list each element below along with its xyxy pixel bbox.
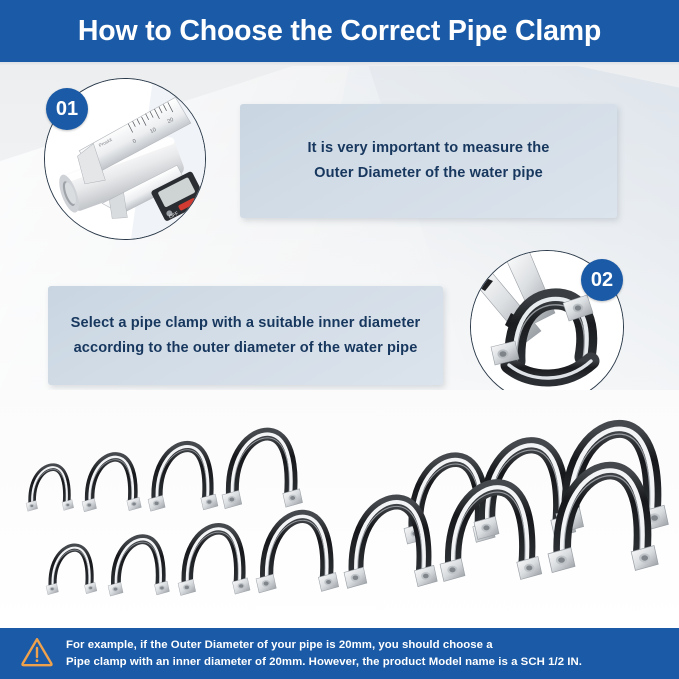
footer-line-1: For example, if the Outer Diameter of yo… bbox=[66, 637, 582, 654]
step-1-line-2: Outer Diameter of the water pipe bbox=[314, 161, 543, 186]
footer-line-2: Pipe clamp with an inner diameter of 20m… bbox=[66, 654, 582, 671]
step-2-line-2: according to the outer diameter of the w… bbox=[74, 336, 418, 361]
warning-triangle-icon bbox=[20, 636, 54, 672]
header-underline bbox=[0, 62, 679, 66]
step-1-badge: 01 bbox=[46, 88, 88, 130]
step-2-line-1: Select a pipe clamp with a suitable inne… bbox=[71, 311, 421, 336]
infographic-page: How to Choose the Correct Pipe Clamp It … bbox=[0, 0, 679, 679]
pipe-clamp-showcase bbox=[0, 390, 679, 630]
step-2-badge: 02 bbox=[581, 259, 623, 301]
page-title: How to Choose the Correct Pipe Clamp bbox=[78, 15, 601, 48]
step-1-text-panel: It is very important to measure the Oute… bbox=[240, 104, 617, 218]
footer-note-bar: For example, if the Outer Diameter of yo… bbox=[0, 628, 679, 679]
step-2-text-panel: Select a pipe clamp with a suitable inne… bbox=[48, 286, 443, 385]
header-banner: How to Choose the Correct Pipe Clamp bbox=[0, 0, 679, 62]
step-1-line-1: It is very important to measure the bbox=[308, 136, 550, 161]
footer-text-block: For example, if the Outer Diameter of yo… bbox=[66, 637, 582, 670]
pipe-clamp-row-illustration bbox=[0, 390, 679, 630]
